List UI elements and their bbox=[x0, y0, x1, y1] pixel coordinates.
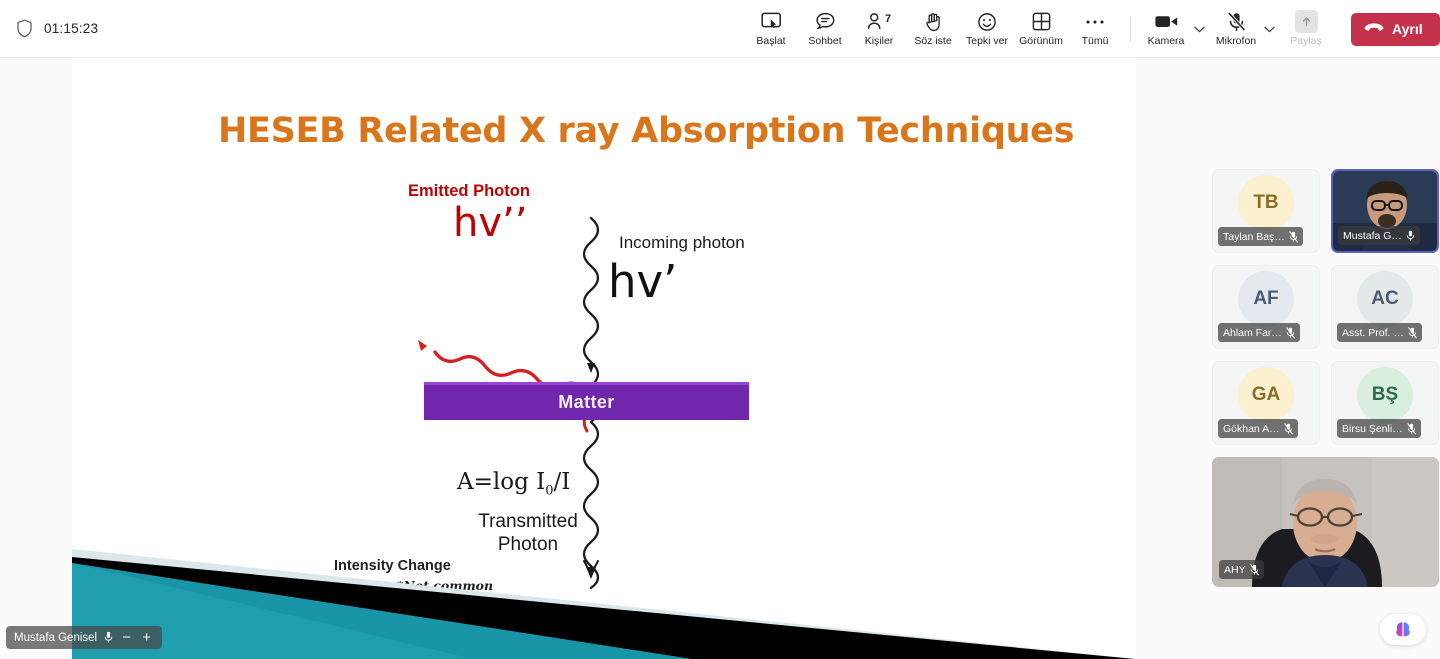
participant-name: Ahlam Far… bbox=[1223, 327, 1282, 339]
spotlight-video-tile[interactable]: AHY bbox=[1212, 457, 1439, 587]
equation-subscript: 0 bbox=[545, 484, 553, 499]
copilot-button[interactable] bbox=[1380, 614, 1426, 645]
microphone-chevron-down-icon[interactable] bbox=[1259, 3, 1279, 55]
toolbar-button-gorunum[interactable]: Görünüm bbox=[1014, 3, 1068, 55]
microphone-muted-icon bbox=[1284, 423, 1293, 435]
toolbar-button-kisiler[interactable]: 7 Kişiler bbox=[852, 3, 906, 55]
leave-meeting-button[interactable]: Ayrıl bbox=[1351, 13, 1440, 46]
microphone-icon bbox=[104, 631, 113, 644]
toolbar-label-kamera: Kamera bbox=[1148, 36, 1185, 47]
meeting-status-group: 01:15:23 bbox=[16, 19, 98, 38]
label-emitted-symbol: hv’’ bbox=[453, 200, 527, 246]
matter-label: Matter bbox=[558, 392, 614, 413]
meeting-stage: HESEB Related X ray Absorption Technique… bbox=[0, 58, 1440, 659]
label-incoming-photon: Incoming photon bbox=[619, 233, 745, 253]
participant-rail: TB Taylan Baş… bbox=[1212, 169, 1440, 587]
participant-tile[interactable]: AF Ahlam Far… bbox=[1212, 265, 1320, 349]
teams-meeting-window: 01:15:23 Başlat bbox=[0, 0, 1440, 659]
zoom-in-button[interactable]: + bbox=[140, 630, 153, 645]
participant-name: Gökhan A… bbox=[1223, 423, 1280, 435]
participant-name: AHY bbox=[1224, 564, 1246, 576]
raise-hand-icon bbox=[924, 11, 943, 33]
toolbar-label-baslat: Başlat bbox=[756, 36, 785, 47]
shared-slide[interactable]: HESEB Related X ray Absorption Technique… bbox=[72, 58, 1135, 659]
toolbar-button-sohbet[interactable]: Sohbet bbox=[798, 3, 852, 55]
absorbance-equation: A=log I0/I bbox=[457, 469, 570, 499]
avatar-initials: AC bbox=[1371, 288, 1398, 310]
hangup-phone-icon bbox=[1364, 21, 1384, 37]
avatar: TB bbox=[1238, 175, 1294, 231]
emoji-smile-icon bbox=[977, 11, 997, 33]
toolbar-button-soz-iste[interactable]: Söz iste bbox=[906, 3, 960, 55]
participant-name: Mustafa G… bbox=[1343, 230, 1402, 242]
avatar: AC bbox=[1357, 271, 1413, 327]
participant-tile-grid: TB Taylan Baş… bbox=[1212, 169, 1440, 445]
camera-control-group: Kamera bbox=[1139, 3, 1209, 55]
microphone-control-group: Mikrofon bbox=[1209, 3, 1279, 55]
slide-decoration bbox=[72, 539, 1135, 659]
leave-button-label: Ayrıl bbox=[1392, 21, 1423, 37]
meeting-timer: 01:15:23 bbox=[44, 21, 98, 36]
participant-nameplate: Ahlam Far… bbox=[1218, 323, 1300, 342]
toolbar-label-tepki-ver: Tepki ver bbox=[966, 36, 1008, 47]
toolbar-button-paylas[interactable]: Paylaş bbox=[1279, 3, 1333, 55]
avatar: AF bbox=[1238, 271, 1294, 327]
toolbar-label-mikrofon: Mikrofon bbox=[1216, 36, 1256, 47]
avatar-initials: TB bbox=[1253, 192, 1278, 214]
toolbar-label-sohbet: Sohbet bbox=[808, 36, 841, 47]
toolbar-label-soz-iste: Söz iste bbox=[914, 36, 951, 47]
participant-nameplate: Asst. Prof. … bbox=[1337, 323, 1422, 342]
equation-main: A=log I bbox=[457, 469, 545, 495]
avatar: GA bbox=[1238, 367, 1294, 423]
matter-bar: Matter bbox=[424, 382, 749, 420]
people-icon: 7 bbox=[867, 11, 891, 33]
microphone-muted-icon bbox=[1227, 11, 1246, 33]
avatar-initials: GA bbox=[1252, 384, 1281, 406]
participant-tile[interactable]: BŞ Birsu Şenli… bbox=[1331, 361, 1439, 445]
toolbar-label-kisiler: Kişiler bbox=[865, 36, 894, 47]
participant-nameplate: Birsu Şenli… bbox=[1337, 419, 1421, 438]
toolbar-button-kamera[interactable]: Kamera bbox=[1139, 3, 1193, 55]
participant-nameplate: Mustafa G… bbox=[1338, 226, 1420, 245]
participant-nameplate: AHY bbox=[1219, 560, 1264, 579]
microphone-muted-icon bbox=[1289, 231, 1298, 243]
toolbar-controls: Başlat Sohbet 7 bbox=[744, 0, 1440, 58]
participant-tile[interactable]: GA Gökhan A… bbox=[1212, 361, 1320, 445]
microphone-muted-icon bbox=[1250, 564, 1259, 576]
avatar-initials: BŞ bbox=[1372, 384, 1398, 406]
toolbar-button-baslat[interactable]: Başlat bbox=[744, 3, 798, 55]
participant-tile[interactable]: AC Asst. Prof. … bbox=[1331, 265, 1439, 349]
toolbar-divider bbox=[1130, 16, 1131, 42]
toolbar-label-paylas: Paylaş bbox=[1290, 36, 1322, 47]
video-camera-icon bbox=[1154, 11, 1179, 33]
microphone-icon bbox=[1406, 230, 1415, 242]
participant-tile-active[interactable]: Mustafa G… bbox=[1331, 169, 1439, 253]
participant-name: Asst. Prof. … bbox=[1342, 327, 1404, 339]
chat-bubble-icon bbox=[815, 11, 836, 33]
label-emitted-photon: Emitted Photon bbox=[408, 182, 530, 201]
microphone-muted-icon bbox=[1407, 423, 1416, 435]
zoom-out-button[interactable]: − bbox=[120, 630, 133, 645]
participant-name: Taylan Baş… bbox=[1223, 231, 1285, 243]
participant-count-badge: 7 bbox=[885, 13, 891, 25]
camera-chevron-down-icon[interactable] bbox=[1189, 3, 1209, 55]
grid-view-icon bbox=[1032, 11, 1051, 33]
presenter-zoom-bar: Mustafa Genisel − + bbox=[6, 626, 162, 649]
microphone-muted-icon bbox=[1286, 327, 1295, 339]
shield-icon bbox=[16, 19, 33, 38]
participant-name: Birsu Şenli… bbox=[1342, 423, 1403, 435]
toolbar-label-gorunum: Görünüm bbox=[1019, 36, 1063, 47]
avatar: BŞ bbox=[1357, 367, 1413, 423]
copilot-brain-icon bbox=[1392, 620, 1414, 640]
presenter-name: Mustafa Genisel bbox=[14, 632, 97, 644]
share-upload-icon bbox=[1295, 11, 1318, 33]
present-screen-icon bbox=[761, 11, 782, 33]
toolbar-label-tumu: Tümü bbox=[1082, 36, 1109, 47]
toolbar-button-tumu[interactable]: Tümü bbox=[1068, 3, 1122, 55]
microphone-muted-icon bbox=[1408, 327, 1417, 339]
participant-nameplate: Taylan Baş… bbox=[1218, 227, 1303, 246]
more-ellipsis-icon bbox=[1084, 11, 1106, 33]
participant-nameplate: Gökhan A… bbox=[1218, 419, 1298, 438]
avatar-initials: AF bbox=[1253, 288, 1278, 310]
toolbar-button-tepki-ver[interactable]: Tepki ver bbox=[960, 3, 1014, 55]
equation-tail: /I bbox=[554, 469, 571, 495]
participant-tile[interactable]: TB Taylan Baş… bbox=[1212, 169, 1320, 253]
meeting-toolbar: 01:15:23 Başlat bbox=[0, 0, 1440, 58]
label-incoming-symbol: hv’ bbox=[608, 255, 677, 308]
toolbar-button-mikrofon[interactable]: Mikrofon bbox=[1209, 3, 1263, 55]
